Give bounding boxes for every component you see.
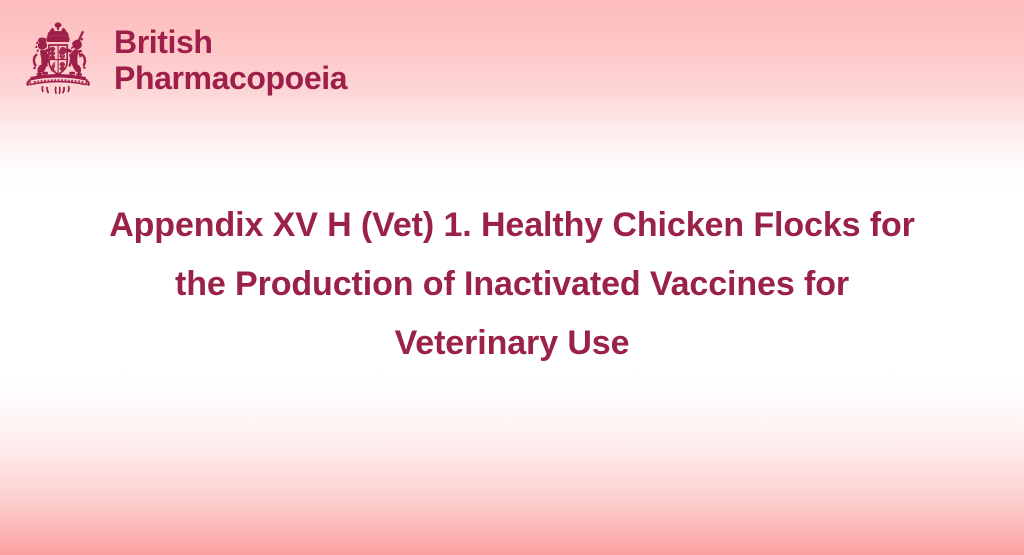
brand-name-line-2: Pharmacopoeia (114, 62, 347, 94)
title-block: Appendix XV H (Vet) 1. Healthy Chicken F… (0, 196, 1024, 373)
page-title-line-1: Appendix XV H (Vet) 1. Healthy Chicken F… (22, 196, 1002, 255)
page-title: Appendix XV H (Vet) 1. Healthy Chicken F… (22, 196, 1002, 373)
page-title-line-2: the Production of Inactivated Vaccines f… (22, 255, 1002, 314)
page-root: British Pharmacopoeia Appendix XV H (Vet… (0, 0, 1024, 555)
page-title-line-3: Veterinary Use (22, 314, 1002, 373)
brand-wordmark: British Pharmacopoeia (114, 26, 347, 94)
brand-name-line-1: British (114, 26, 347, 58)
royal-coat-of-arms-icon (22, 20, 100, 100)
brand-logo[interactable]: British Pharmacopoeia (22, 20, 347, 100)
